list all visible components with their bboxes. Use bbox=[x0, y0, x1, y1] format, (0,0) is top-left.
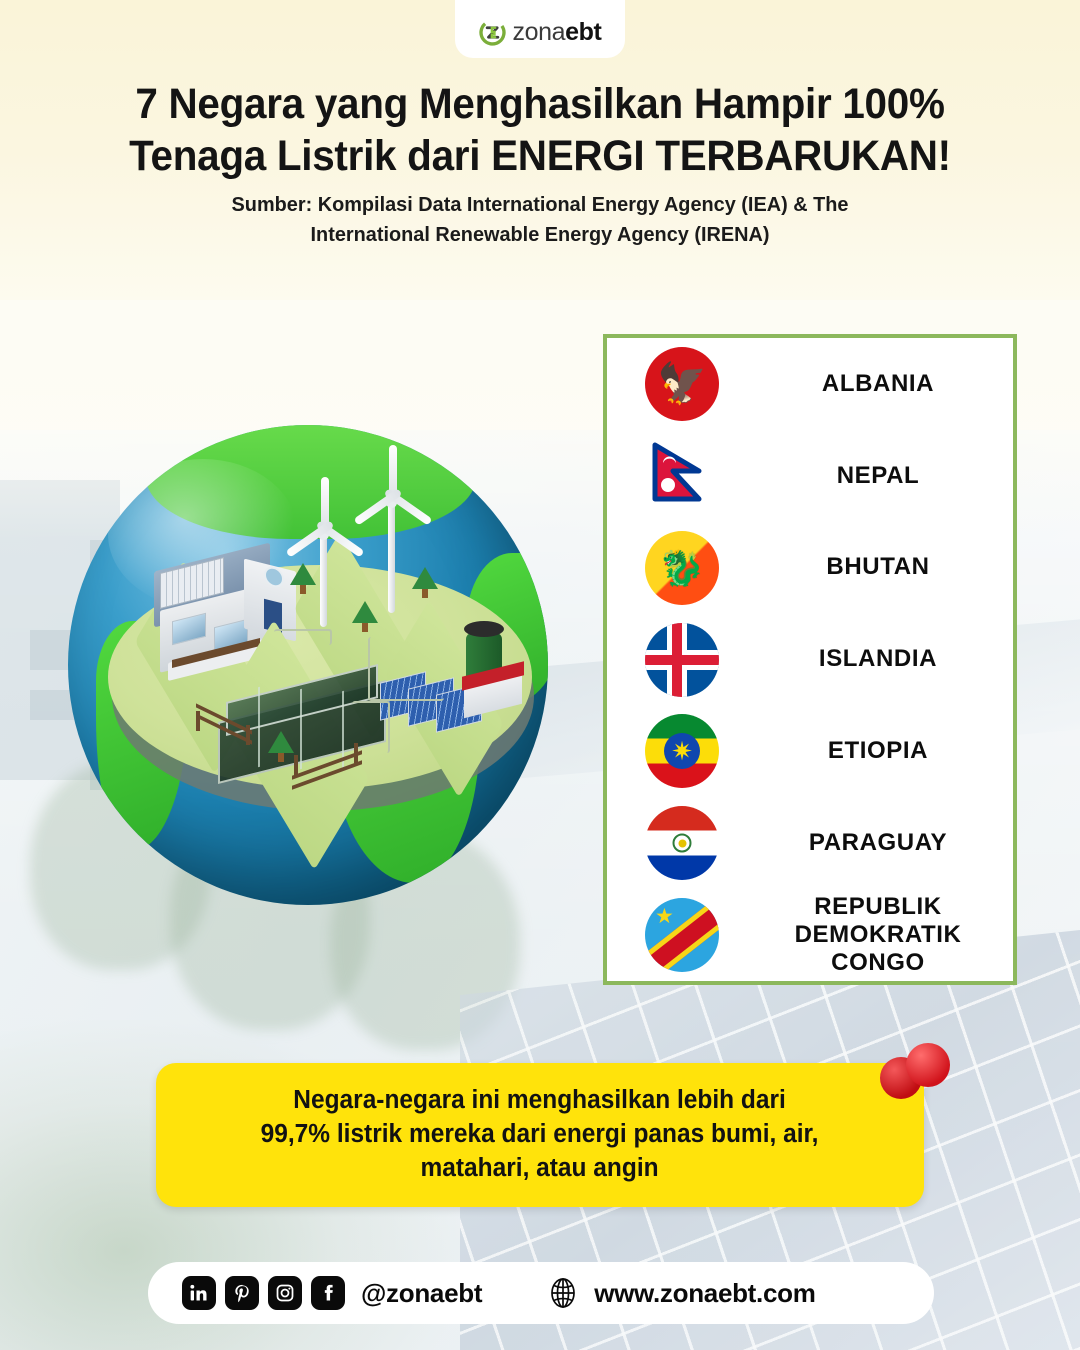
subtitle-line-1: Sumber: Kompilasi Data International Ene… bbox=[162, 190, 919, 220]
globe-icon bbox=[546, 1276, 580, 1310]
instagram-icon[interactable] bbox=[268, 1276, 302, 1310]
dr-congo-flag-icon: ★ bbox=[645, 898, 719, 972]
renewable-energy-globe-illustration bbox=[60, 395, 580, 915]
list-item[interactable]: 🐉 BHUTAN bbox=[607, 522, 1013, 614]
country-label: ISLANDIA bbox=[757, 645, 1013, 673]
infographic-poster: zonaebt 7 Negara yang Menghasilkan Hampi… bbox=[0, 0, 1080, 1350]
brand-logo: zonaebt bbox=[455, 0, 625, 58]
linkedin-icon[interactable] bbox=[182, 1276, 216, 1310]
website-url[interactable]: www.zonaebt.com bbox=[594, 1278, 815, 1309]
list-item[interactable]: NEPAL bbox=[607, 430, 1013, 522]
callout-line-3: matahari, atau angin bbox=[261, 1152, 819, 1186]
country-list-panel: 🦅 ALBANIA NEPAL bbox=[603, 334, 1017, 985]
pinterest-icon[interactable] bbox=[225, 1276, 259, 1310]
title-line-1: 7 Negara yang Menghasilkan Hampir 100% bbox=[89, 78, 991, 130]
ze-circle-logo-icon bbox=[479, 19, 506, 46]
iceland-flag-icon bbox=[645, 623, 719, 697]
page-title: 7 Negara yang Menghasilkan Hampir 100% T… bbox=[89, 78, 991, 183]
country-label: PARAGUAY bbox=[757, 829, 1013, 857]
list-item[interactable]: ISLANDIA bbox=[607, 614, 1013, 706]
callout-line-1: Negara-negara ini menghasilkan lebih dar… bbox=[261, 1084, 819, 1118]
country-label: ETIOPIA bbox=[757, 737, 1013, 765]
footer-bar: @zonaebt www.zonaebt.com bbox=[148, 1262, 934, 1324]
country-label: ALBANIA bbox=[757, 370, 1013, 398]
red-pushpin-icon bbox=[880, 1043, 956, 1103]
logo-text-zona: zona bbox=[513, 18, 566, 46]
earth-globe bbox=[68, 425, 548, 905]
country-label: NEPAL bbox=[757, 462, 1013, 490]
bhutan-flag-icon: 🐉 bbox=[645, 531, 719, 605]
social-handle[interactable]: @zonaebt bbox=[361, 1278, 482, 1309]
country-label: BHUTAN bbox=[757, 553, 1013, 581]
wind-turbine-tower bbox=[320, 535, 327, 627]
title-line-2: Tenaga Listrik dari ENERGI TERBARUKAN! bbox=[89, 130, 991, 182]
logo-text-ebt: ebt bbox=[565, 18, 601, 46]
country-label: REPUBLIK DEMOKRATIK CONGO bbox=[757, 893, 1013, 978]
subtitle-line-2: International Renewable Energy Agency (I… bbox=[162, 220, 919, 250]
paraguay-flag-icon bbox=[645, 806, 719, 880]
list-item[interactable]: ★ REPUBLIK DEMOKRATIK CONGO bbox=[607, 889, 1013, 981]
list-item[interactable]: PARAGUAY bbox=[607, 797, 1013, 889]
callout-line-2: 99,7% listrik mereka dari energi panas b… bbox=[261, 1118, 819, 1152]
facebook-icon[interactable] bbox=[311, 1276, 345, 1310]
ethiopia-flag-icon: ✷ bbox=[645, 714, 719, 788]
list-item[interactable]: ✷ ETIOPIA bbox=[607, 705, 1013, 797]
wind-turbine-tower bbox=[388, 503, 395, 613]
nepal-flag-icon bbox=[643, 437, 721, 515]
list-item[interactable]: 🦅 ALBANIA bbox=[607, 338, 1013, 430]
albania-flag-icon: 🦅 bbox=[645, 347, 719, 421]
page-subtitle: Sumber: Kompilasi Data International Ene… bbox=[162, 190, 919, 249]
highlight-callout: Negara-negara ini menghasilkan lebih dar… bbox=[156, 1063, 924, 1207]
